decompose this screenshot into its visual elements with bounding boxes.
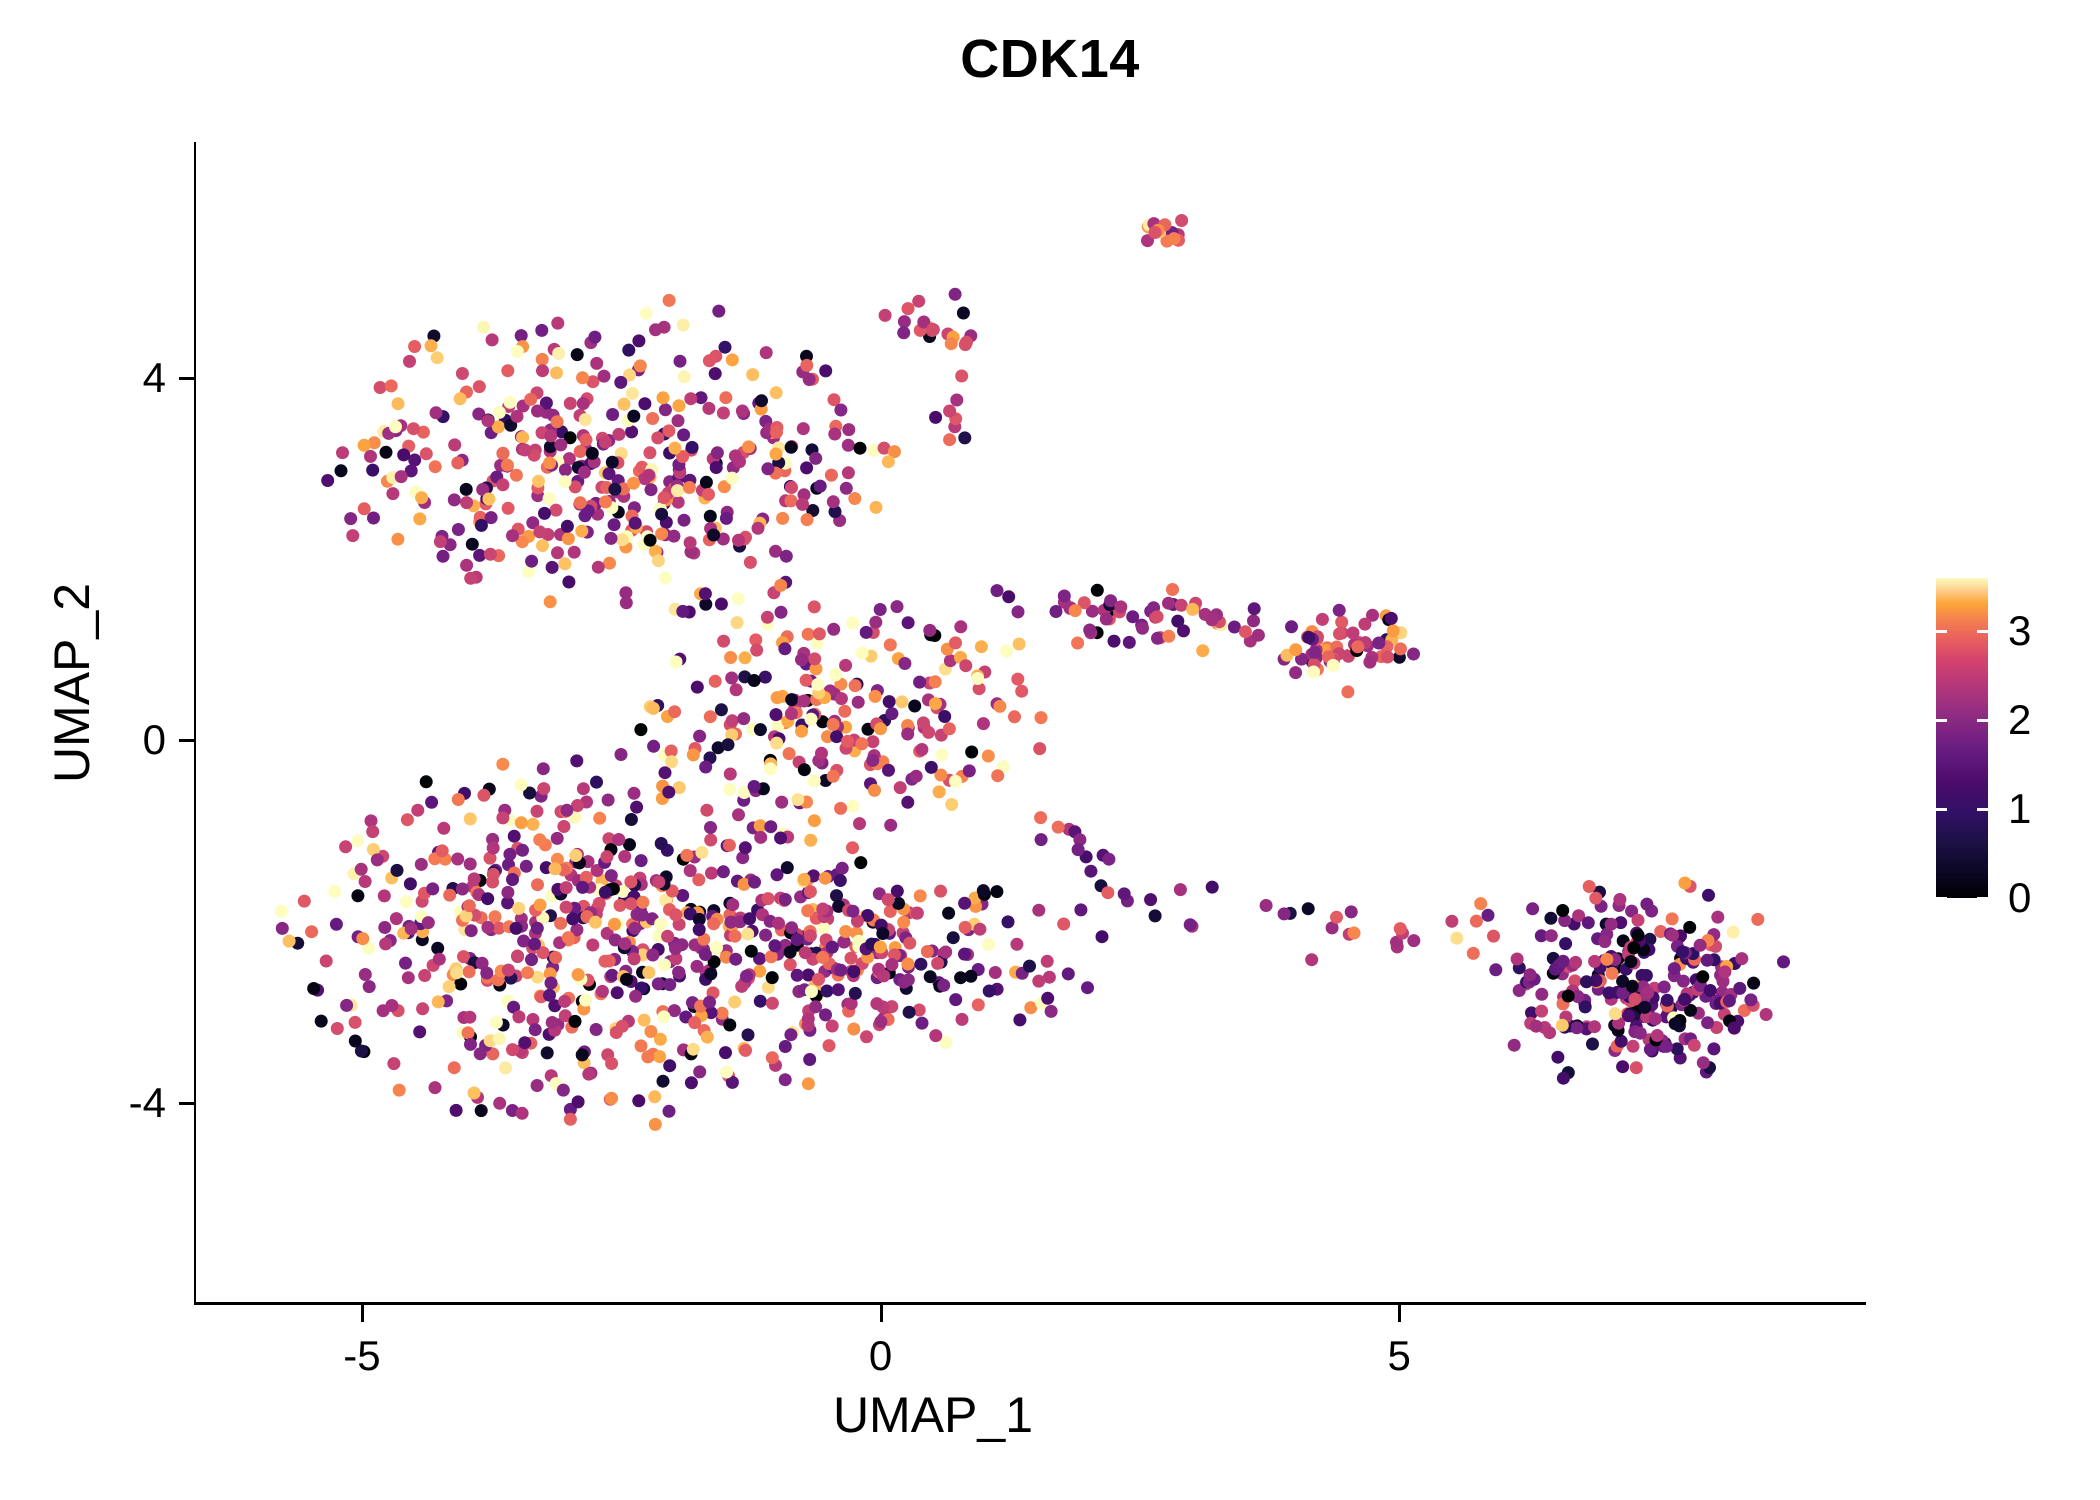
scatter-point [687,748,700,761]
scatter-point [663,294,676,307]
scatter-point [572,968,585,981]
scatter-point [501,459,514,472]
scatter-point [866,754,879,767]
scatter-point [531,805,544,818]
scatter-point [754,723,767,736]
scatter-point [746,368,759,381]
y-axis-title: UMAP_2 [43,343,101,1023]
scatter-point [929,697,942,710]
scatter-point [816,951,829,964]
scatter-point [1002,915,1015,928]
scatter-point [983,985,996,998]
y-tick-label: -4 [36,1079,166,1127]
scatter-point [659,572,672,585]
scatter-point [1302,902,1315,915]
scatter-point [1627,941,1640,954]
scatter-point [543,457,556,470]
scatter-point [849,987,862,1000]
scatter-point [732,592,745,605]
scatter-point [702,488,715,501]
scatter-point [759,929,772,942]
scatter-point [468,872,481,885]
scatter-point [645,483,658,496]
scatter-point [819,364,832,377]
scatter-point [402,971,415,984]
y-tick-mark [179,1102,196,1105]
scatter-point [737,712,750,725]
scatter-point [781,861,794,874]
scatter-point [1114,600,1127,613]
scatter-point [569,849,582,862]
scatter-point [550,366,563,379]
scatter-point [493,1032,506,1045]
scatter-point [574,445,587,458]
scatter-point [636,909,649,922]
scatter-point [1013,638,1026,651]
scatter-point [558,995,571,1008]
scatter-point [653,1050,666,1063]
scatter-point [520,860,533,873]
scatter-point [1045,1005,1058,1018]
scatter-point [729,930,742,943]
scatter-point [433,953,446,966]
scatter-point [830,889,843,902]
scatter-point [1615,1035,1628,1048]
scatter-point [506,873,519,886]
scatter-point [717,635,730,648]
scatter-point [902,616,915,629]
scatter-point [1177,624,1190,637]
scatter-point [463,965,476,978]
scatter-point [431,351,444,364]
scatter-point [842,439,855,452]
scatter-point [710,461,723,474]
scatter-point [463,1011,476,1024]
scatter-point [709,675,722,688]
scatter-point [715,703,728,716]
scatter-point [1032,975,1045,988]
scatter-point [1545,929,1558,942]
scatter-point [811,678,824,691]
scatter-point [551,415,564,428]
scatter-point [529,1023,542,1036]
scatter-point [663,1059,676,1072]
scatter-point [635,1039,648,1052]
scatter-point [848,492,861,505]
scatter-point [705,867,718,880]
scatter-point [700,804,713,817]
scatter-point [975,640,988,653]
scatter-point [1649,1012,1662,1025]
scatter-point [814,480,827,493]
scatter-point [717,407,730,420]
scatter-point [898,657,911,670]
scatter-point [1701,1016,1714,1029]
scatter-point [929,411,942,424]
scatter-point [657,1075,670,1088]
scatter-point [1487,930,1500,943]
scatter-point [813,627,826,640]
scatter-point [405,922,418,935]
scatter-point [512,1010,525,1023]
scatter-point [464,812,477,825]
scatter-point [802,628,815,641]
scatter-point [964,970,977,983]
scatter-point [1074,903,1087,916]
scatter-point [797,422,810,435]
scatter-point [482,493,495,506]
scatter-point [576,1048,589,1061]
scatter-point [560,881,573,894]
scatter-point [701,1031,714,1044]
scatter-point [1118,887,1131,900]
scatter-point [1688,1039,1701,1052]
scatter-point [770,708,783,721]
scatter-point [798,873,811,886]
scatter-point [672,414,685,427]
scatter-point [1696,970,1709,983]
scatter-point [551,317,564,330]
scatter-point [655,508,668,521]
scatter-point [552,347,565,360]
scatter-point [620,973,633,986]
scatter-point [707,529,720,542]
scatter-point [668,705,681,718]
scatter-point [898,315,911,328]
x-tick-label: 5 [1388,1332,1411,1380]
scatter-point [1345,905,1358,918]
scatter-point [599,886,612,899]
scatter-point [390,912,403,925]
scatter-point [457,950,470,963]
scatter-point [1072,843,1085,856]
scatter-point [496,811,509,824]
scatter-point [958,948,971,961]
scatter-point [684,536,697,549]
scatter-point [535,324,548,337]
scatter-point [717,865,730,878]
scatter-point [667,530,680,543]
scatter-point [652,977,665,990]
scatter-point [1551,1051,1564,1064]
scatter-point [707,917,720,930]
scatter-point [582,1068,595,1081]
scatter-point [874,1015,887,1028]
scatter-point [1470,915,1483,928]
scatter-point [1600,953,1613,966]
scatter-point [628,922,641,935]
scatter-point [454,392,467,405]
scatter-point [845,952,858,965]
scatter-point [827,623,840,636]
scatter-point [671,484,684,497]
scatter-point [868,784,881,797]
scatter-point [683,481,696,494]
scatter-point [901,728,914,741]
scatter-point [772,917,785,930]
scatter-point [765,950,778,963]
scatter-point [578,466,591,479]
scatter-point [533,833,546,846]
scatter-point [1582,916,1595,929]
scatter-point [1562,990,1575,1003]
scatter-point [884,819,897,832]
scatter-point [561,520,574,533]
scatter-point [933,785,946,798]
scatter-point [1666,929,1679,942]
scatter-point [993,700,1006,713]
scatter-point [1252,629,1265,642]
scatter-point [860,626,873,639]
scatter-point [659,403,672,416]
scatter-point [557,1084,570,1097]
scatter-point [515,329,528,342]
scatter-point [558,557,571,570]
scatter-point [1363,656,1376,669]
scatter-point [784,958,797,971]
scatter-point [1586,1038,1599,1051]
scatter-point [774,579,787,592]
scatter-point [634,359,647,372]
scatter-point [740,970,753,983]
scatter-point [938,710,951,723]
scatter-point [785,441,798,454]
scatter-point [937,979,950,992]
scatter-point [554,917,567,930]
scatter-point [785,921,798,934]
scatter-point [853,817,866,830]
scatter-point [632,334,645,347]
scatter-point [1627,1040,1640,1053]
scatter-point [1723,994,1736,1007]
scatter-point [775,606,788,619]
scatter-point [534,899,547,912]
scatter-point [570,754,583,767]
scatter-point [897,916,910,929]
scatter-point [328,885,341,898]
scatter-point [1588,955,1601,968]
scatter-point [754,995,767,1008]
scatter-point [593,812,606,825]
scatter-point [474,1047,487,1060]
scatter-point [958,431,971,444]
scatter-point [963,764,976,777]
scatter-point [902,973,915,986]
scatter-point [704,710,717,723]
scatter-point [380,446,393,459]
scatter-point [426,882,439,895]
scatter-point [590,776,603,789]
scatter-point [516,844,529,857]
scatter-point [420,775,433,788]
scatter-point [809,1000,822,1013]
colorbar-gradient [1936,578,1988,898]
scatter-point [344,512,357,525]
scatter-point [1557,955,1570,968]
scatter-point [990,885,1003,898]
scatter-point [770,448,783,461]
scatter-point [1289,666,1302,679]
scatter-point [602,794,615,807]
scatter-point [699,761,712,774]
scatter-point [827,770,840,783]
scatter-point [619,586,632,599]
scatter-point [732,808,745,821]
scatter-point [615,748,628,761]
scatter-point [795,725,808,738]
scatter-point [635,854,648,867]
scatter-point [657,391,670,404]
scatter-point [910,770,923,783]
scatter-point [1609,1007,1622,1020]
scatter-point [959,659,972,672]
scatter-point [1559,937,1572,950]
scatter-point [991,769,1004,782]
scatter-point [550,504,563,517]
scatter-point [852,696,865,709]
scatter-point [820,985,833,998]
scatter-point [1206,881,1219,894]
scatter-point [658,958,671,971]
scatter-point [1316,613,1329,626]
scatter-point [525,555,538,568]
scatter-point [1341,685,1354,698]
scatter-point [625,897,638,910]
scatter-point [1569,956,1582,969]
scatter-point [425,339,438,352]
scatter-point [1727,926,1740,939]
scatter-point [598,370,611,383]
scatter-point [1588,1020,1601,1033]
scatter-point [934,885,947,898]
scatter-point [949,636,962,649]
scatter-point [460,483,473,496]
scatter-point [723,839,736,852]
scatter-point [903,1006,916,1019]
scatter-point [652,554,665,567]
scatter-point [468,1087,481,1100]
scatter-point [957,307,970,320]
scatter-point [404,877,417,890]
scatter-point [537,782,550,795]
scatter-point [1598,935,1611,948]
scatter-point [1407,934,1420,947]
scatter-point [854,856,867,869]
scatter-point [926,323,939,336]
scatter-point [456,883,469,896]
scatter-point [1278,907,1291,920]
scatter-point [481,892,494,905]
scatter-point [1508,1039,1521,1052]
scatter-point [730,683,743,696]
scatter-point [1151,632,1164,645]
scatter-point [719,341,732,354]
colorbar-tick-mark [1977,719,1988,722]
scatter-point [605,869,618,882]
scatter-point [612,833,625,846]
scatter-point [649,1118,662,1131]
scatter-point [695,846,708,859]
scatter-point [515,778,528,791]
scatter-point [448,438,461,451]
scatter-point [622,344,635,357]
scatter-point [391,864,404,877]
scatter-point [475,1104,488,1117]
scatter-point [802,1019,815,1032]
scatter-point [590,357,603,370]
colorbar-tick-label: 2 [2008,696,2031,744]
scatter-point [566,912,579,925]
scatter-point [1616,1060,1629,1073]
scatter-point [496,758,509,771]
scatter-point [879,309,892,322]
scatter-point [925,761,938,774]
scatter-point [1733,982,1746,995]
scatter-point [704,510,717,523]
scatter-point [796,498,809,511]
scatter-point [945,337,958,350]
scatter-point [436,844,449,857]
scatter-point [846,617,859,630]
scatter-point [1351,640,1364,653]
scatter-point [608,918,621,931]
scatter-point [351,889,364,902]
scatter-point [1543,1026,1556,1039]
scatter-point [954,620,967,633]
scatter-point [809,452,822,465]
scatter-point [454,978,467,991]
scatter-point [366,825,379,838]
scatter-point [665,755,678,768]
scatter-point [501,364,514,377]
scatter-point [450,1104,463,1117]
scatter-point [1651,1029,1664,1042]
scatter-point [511,410,524,423]
scatter-point [589,916,602,929]
scatter-point [395,470,408,483]
scatter-point [816,903,829,916]
scatter-point [808,600,821,613]
scatter-point [1305,953,1318,966]
scatter-point [1668,962,1681,975]
scatter-point [741,928,754,941]
scatter-point [684,392,697,405]
scatter-point [1624,955,1637,968]
scatter-point [543,989,556,1002]
scatter-point [411,804,424,817]
scatter-point [1333,604,1346,617]
scatter-point [1450,932,1463,945]
scatter-point [1034,811,1047,824]
scatter-point [847,905,860,918]
scatter-point [531,405,544,418]
scatter-point [1151,610,1164,623]
scatter-point [834,964,847,977]
scatter-point [499,1061,512,1074]
scatter-point [1041,992,1054,1005]
x-tick-mark [361,1305,364,1322]
scatter-point [766,1051,779,1064]
scatter-point [939,946,952,959]
scatter-point [1096,930,1109,943]
scatter-point [1556,1019,1569,1032]
scatter-point [761,462,774,475]
scatter-point [525,953,538,966]
scatter-point [1162,597,1175,610]
scatter-point [536,353,549,366]
scatter-point [629,990,642,1003]
scatter-point [766,971,779,984]
